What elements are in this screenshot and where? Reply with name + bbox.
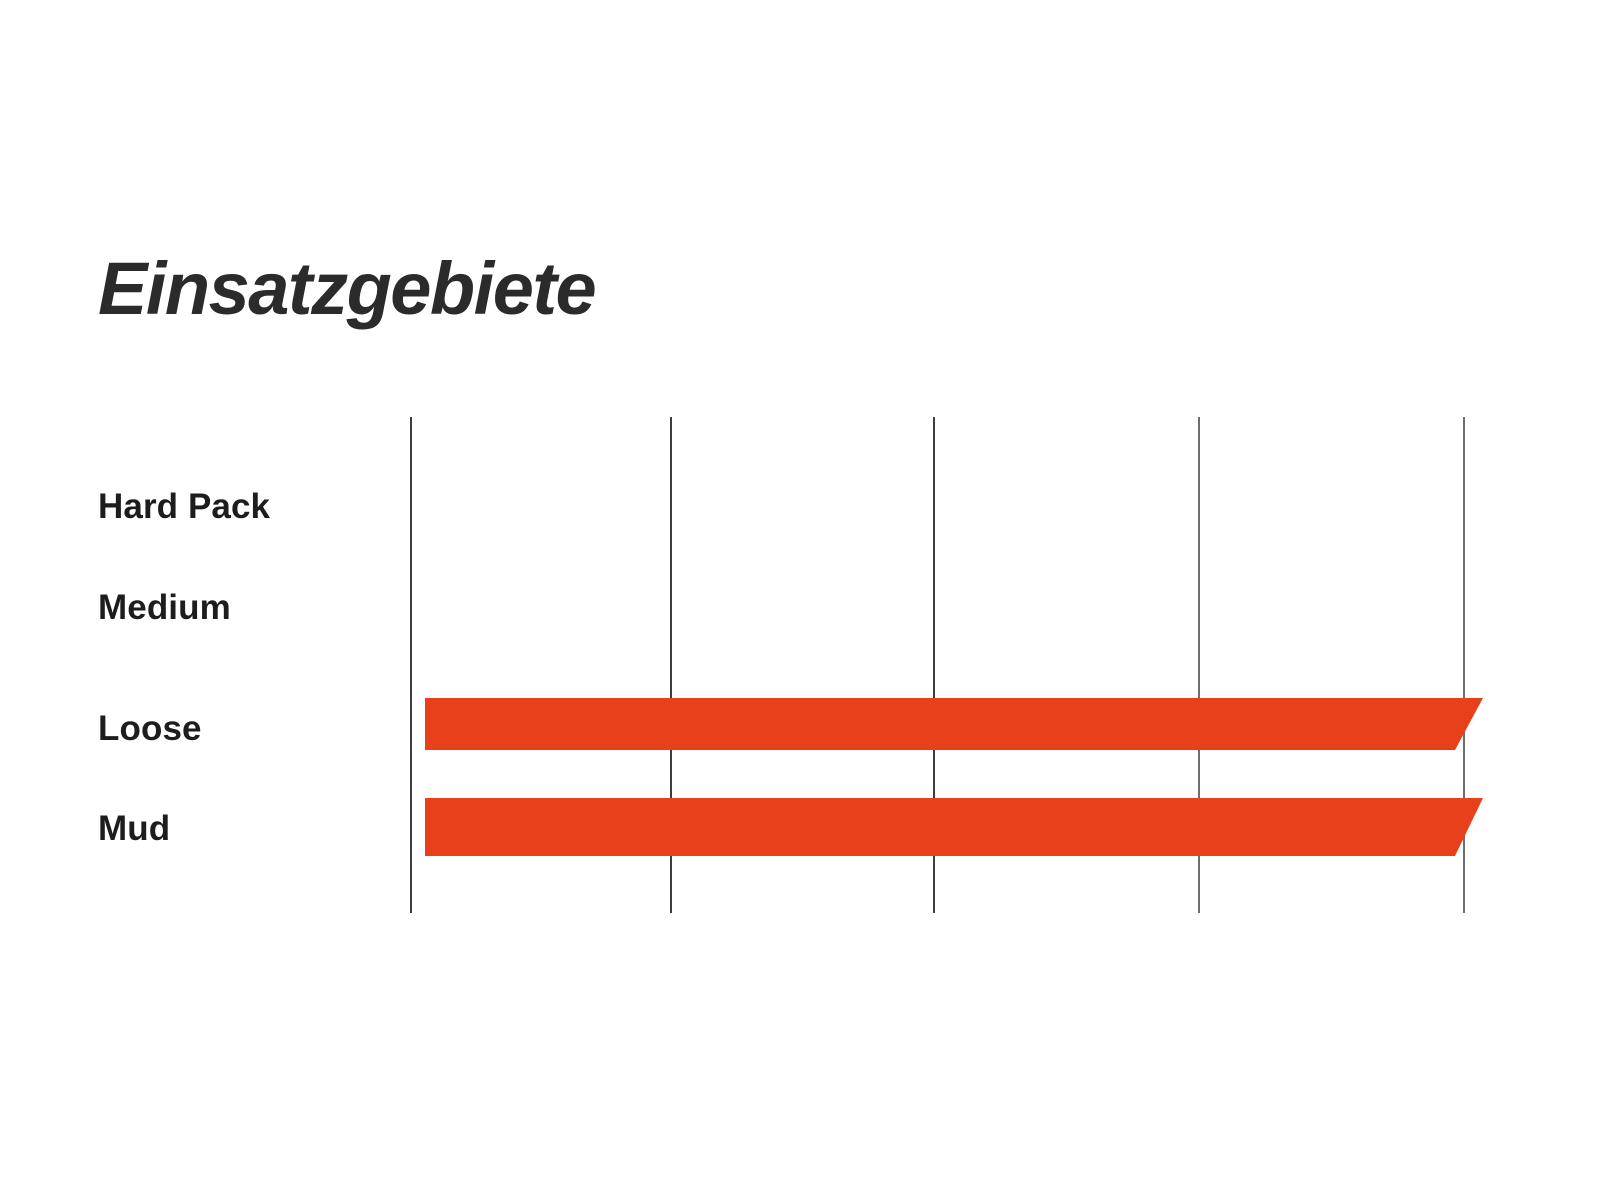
category-label-hard-pack: Hard Pack xyxy=(98,487,270,527)
category-label-medium: Medium xyxy=(98,588,231,628)
bar-loose: 4 xyxy=(425,698,1485,750)
category-label-mud: Mud xyxy=(98,809,170,849)
gridline-0 xyxy=(410,417,412,913)
category-label-loose: Loose xyxy=(98,709,202,749)
bar-loose-shape xyxy=(425,698,1485,750)
chart-title: Einsatzgebiete xyxy=(98,252,595,326)
chart-canvas: Einsatzgebiete Hard Pack Medium Loose Mu… xyxy=(0,0,1600,1200)
bar-mud-shape xyxy=(425,798,1485,856)
bar-mud: 4 xyxy=(425,798,1485,856)
